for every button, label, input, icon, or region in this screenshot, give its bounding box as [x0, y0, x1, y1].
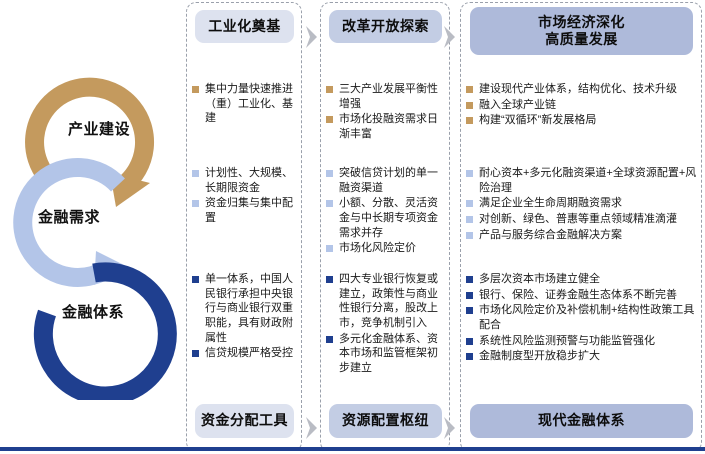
- cycle-label-demand: 金融需求: [38, 206, 100, 227]
- cell-system-phase1: 单一体系，中国人民银行承担中央银行与商业银行双重职能，具有财政附属性 信贷规模严…: [190, 272, 300, 362]
- list-item: 计划性、大规模、长期限资金: [192, 166, 300, 195]
- bullet-marker: [192, 276, 199, 283]
- bullet-marker: [466, 216, 473, 223]
- bullet-marker: [466, 232, 473, 239]
- cell-system-phase2: 四大专业银行恢复或建立，政策性与商业性银行分离，股改上市，竞争机制引入 多元化金…: [324, 272, 448, 376]
- bullet-marker: [466, 338, 473, 345]
- phase-2-footer: 资源配置枢纽: [329, 404, 442, 438]
- list-item: 小额、分散、灵活资金与中长期专项资金需求并存: [326, 196, 448, 240]
- list-item: 建设现代产业体系，结构优化、技术升级: [466, 82, 702, 97]
- phase-3-header-line2: 高质量发展: [538, 31, 625, 48]
- phase-3-footer: 现代金融体系: [470, 404, 693, 438]
- list-item: 三大产业发展平衡性增强: [326, 82, 448, 111]
- bullet-marker: [326, 170, 333, 177]
- chevron-right-icon: [441, 415, 459, 441]
- bullet-marker: [466, 200, 473, 207]
- cycle-arcs-svg: [0, 55, 182, 400]
- arc-system: [43, 272, 167, 396]
- bullet-marker: [326, 336, 333, 343]
- chevron-right-icon: [303, 415, 321, 441]
- bullet-marker: [466, 353, 473, 360]
- list-item: 信贷规模严格受控: [192, 346, 300, 361]
- bullet-marker: [326, 86, 333, 93]
- list-item: 多层次资本市场建立健全: [466, 272, 702, 287]
- cell-demand-phase3: 耐心资本+多元化融资渠道+全球资源配置+风险治理 满足企业全生命周期融资需求 对…: [464, 166, 702, 243]
- list-item: 突破信贷计划的单一融资渠道: [326, 166, 448, 195]
- phase-3-header: 市场经济深化 高质量发展: [470, 7, 693, 55]
- bullet-marker: [466, 292, 473, 299]
- bullet-marker: [466, 276, 473, 283]
- list-item: 耐心资本+多元化融资渠道+全球资源配置+风险治理: [466, 166, 702, 195]
- bullet-marker: [192, 86, 199, 93]
- bullet-marker: [466, 86, 473, 93]
- bullet-marker: [192, 350, 199, 357]
- list-item: 产品与服务综合金融解决方案: [466, 228, 702, 243]
- phase-1-header: 工业化奠基: [195, 10, 294, 43]
- cell-demand-phase2: 突破信贷计划的单一融资渠道 小额、分散、灵活资金与中长期专项资金需求并存 市场化…: [324, 166, 448, 257]
- list-item: 对创新、绿色、普惠等重点领域精准滴灌: [466, 212, 702, 227]
- list-item: 多元化金融体系、资本市场和监管框架初步建立: [326, 332, 448, 376]
- phase-3-header-line1: 市场经济深化: [538, 14, 625, 31]
- list-item: 市场化风险定价及补偿机制+结构性政策工具配合: [466, 303, 702, 332]
- bullet-marker: [466, 102, 473, 109]
- list-item: 构建“双循环”新发展格局: [466, 113, 702, 128]
- cell-industry-phase3: 建设现代产业体系，结构优化、技术升级 融入全球产业链 构建“双循环”新发展格局: [464, 82, 702, 129]
- bullet-marker: [326, 276, 333, 283]
- list-item: 市场化风险定价: [326, 241, 448, 256]
- list-item: 满足企业全生命周期融资需求: [466, 196, 702, 211]
- bullet-marker: [326, 200, 333, 207]
- cell-industry-phase2: 三大产业发展平衡性增强 市场化投融资需求日渐丰富: [324, 82, 448, 143]
- bullet-marker: [192, 200, 199, 207]
- phase-2-header: 改革开放探索: [329, 10, 442, 43]
- cell-industry-phase1: 集中力量快速推进（重）工业化、基建: [190, 82, 300, 127]
- bullet-marker: [192, 170, 199, 177]
- list-item: 单一体系，中国人民银行承担中央银行与商业银行双重职能，具有财政附属性: [192, 272, 300, 345]
- list-item: 银行、保险、证券金融生态体系不断完善: [466, 288, 702, 303]
- infographic-canvas: 产业建设 金融需求 金融体系 工业化奠基 改革开放探索 市场经济深化 高质量发展…: [0, 0, 705, 454]
- list-item: 系统性风险监测预警与功能监管强化: [466, 334, 702, 349]
- list-item: 金融制度型开放稳步扩大: [466, 349, 702, 364]
- bullet-marker: [326, 116, 333, 123]
- bullet-marker: [466, 117, 473, 124]
- list-item: 融入全球产业链: [466, 98, 702, 113]
- cycle-diagram: 产业建设 金融需求 金融体系: [0, 55, 182, 400]
- list-item: 资金归集与集中配置: [192, 196, 300, 225]
- bullet-marker: [466, 170, 473, 177]
- list-item: 市场化投融资需求日渐丰富: [326, 112, 448, 141]
- list-item: 集中力量快速推进（重）工业化、基建: [192, 82, 300, 126]
- list-item: 四大专业银行恢复或建立，政策性与商业性银行分离，股改上市，竞争机制引入: [326, 272, 448, 331]
- bullet-marker: [326, 245, 333, 252]
- cell-system-phase3: 多层次资本市场建立健全 银行、保险、证券金融生态体系不断完善 市场化风险定价及补…: [464, 272, 702, 365]
- cell-demand-phase1: 计划性、大规模、长期限资金 资金归集与集中配置: [190, 166, 300, 227]
- chevron-right-icon: [441, 24, 459, 50]
- bullet-marker: [466, 307, 473, 314]
- phase-1-footer: 资金分配工具: [195, 404, 294, 438]
- arc-industry: [35, 87, 150, 207]
- chevron-right-icon: [303, 24, 321, 50]
- cycle-label-system: 金融体系: [62, 301, 124, 322]
- cycle-label-industry: 产业建设: [68, 118, 130, 139]
- phase-column-1: [186, 2, 302, 452]
